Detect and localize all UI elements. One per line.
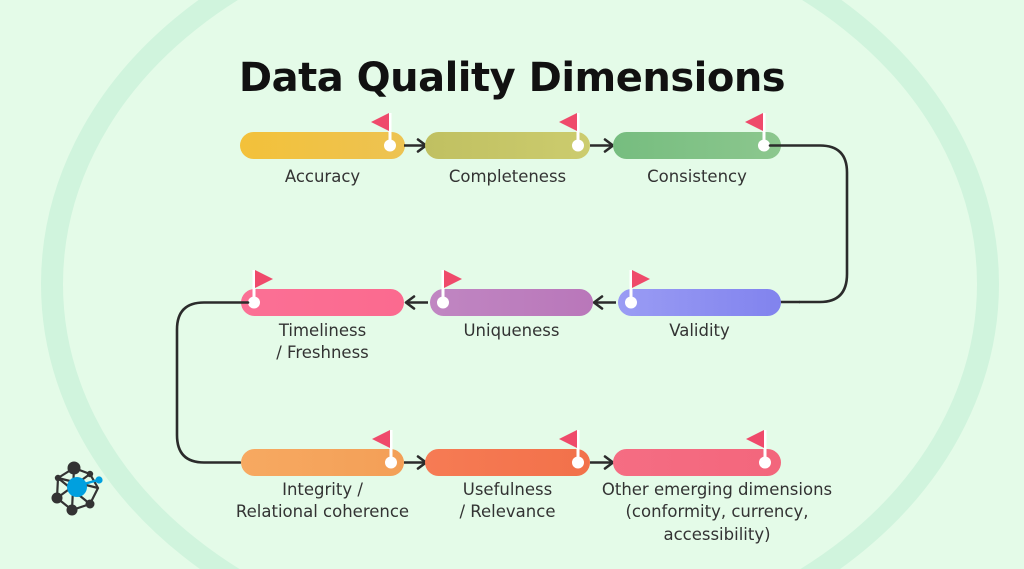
step-label-completeness: Completeness: [425, 166, 590, 188]
flag-icon: [559, 113, 577, 131]
step-pin: [248, 297, 260, 309]
infographic-canvas: Data Quality Dimensions: [0, 0, 1024, 569]
step-bar-consistency[interactable]: [613, 132, 781, 159]
step-pin: [385, 457, 397, 469]
step-bar-other-dimensions[interactable]: [613, 449, 781, 476]
flow-step-7[interactable]: [241, 430, 404, 476]
step-label-accuracy: Accuracy: [240, 166, 405, 188]
connector-8-9: [590, 457, 613, 469]
flag-icon: [746, 430, 764, 448]
flag-icon: [444, 270, 462, 288]
flag-icon: [372, 430, 390, 448]
step-pin: [572, 457, 584, 469]
step-bar-timeliness[interactable]: [241, 289, 404, 316]
connector-1-2: [404, 140, 426, 152]
connector-2-3: [590, 140, 613, 152]
flag-icon: [745, 113, 763, 131]
step-label-consistency: Consistency: [613, 166, 781, 188]
flag-icon: [371, 113, 389, 131]
connector-7-8: [404, 457, 426, 469]
step-bar-uniqueness[interactable]: [430, 289, 593, 316]
step-bar-validity[interactable]: [618, 289, 781, 316]
step-pin: [437, 297, 449, 309]
flow-step-9[interactable]: [613, 430, 781, 476]
flow-step-8[interactable]: [425, 430, 590, 476]
flow-step-2[interactable]: [425, 113, 590, 159]
step-bar-completeness[interactable]: [425, 132, 590, 159]
step-label-other: Other emerging dimensions (conformity, c…: [588, 479, 846, 546]
flag-icon: [559, 430, 577, 448]
step-label-usefulness: Usefulness / Relevance: [425, 479, 590, 524]
step-pin: [625, 297, 637, 309]
step-pin: [572, 140, 584, 152]
step-bar-integrity[interactable]: [241, 449, 404, 476]
connector-4-5: [594, 297, 616, 309]
step-bar-accuracy[interactable]: [240, 132, 405, 159]
network-graph-logo: [44, 452, 116, 524]
flow-step-3[interactable]: [613, 113, 781, 159]
step-label-integrity: Integrity / Relational coherence: [211, 479, 434, 524]
step-label-uniqueness: Uniqueness: [430, 320, 593, 342]
flag-icon: [632, 270, 650, 288]
step-pin: [384, 140, 396, 152]
flow-step-6[interactable]: [241, 270, 404, 316]
flow-step-1[interactable]: [240, 113, 405, 159]
flow-step-4[interactable]: [618, 270, 781, 316]
step-pin: [759, 457, 771, 469]
page-title: Data Quality Dimensions: [0, 55, 1024, 101]
flag-icon: [255, 270, 273, 288]
step-label-timeliness: Timeliness / Freshness: [241, 320, 404, 365]
step-pin: [758, 140, 770, 152]
flow-step-5[interactable]: [430, 270, 593, 316]
step-bar-usefulness[interactable]: [425, 449, 590, 476]
connector-5-6: [406, 297, 428, 309]
step-label-validity: Validity: [618, 320, 781, 342]
